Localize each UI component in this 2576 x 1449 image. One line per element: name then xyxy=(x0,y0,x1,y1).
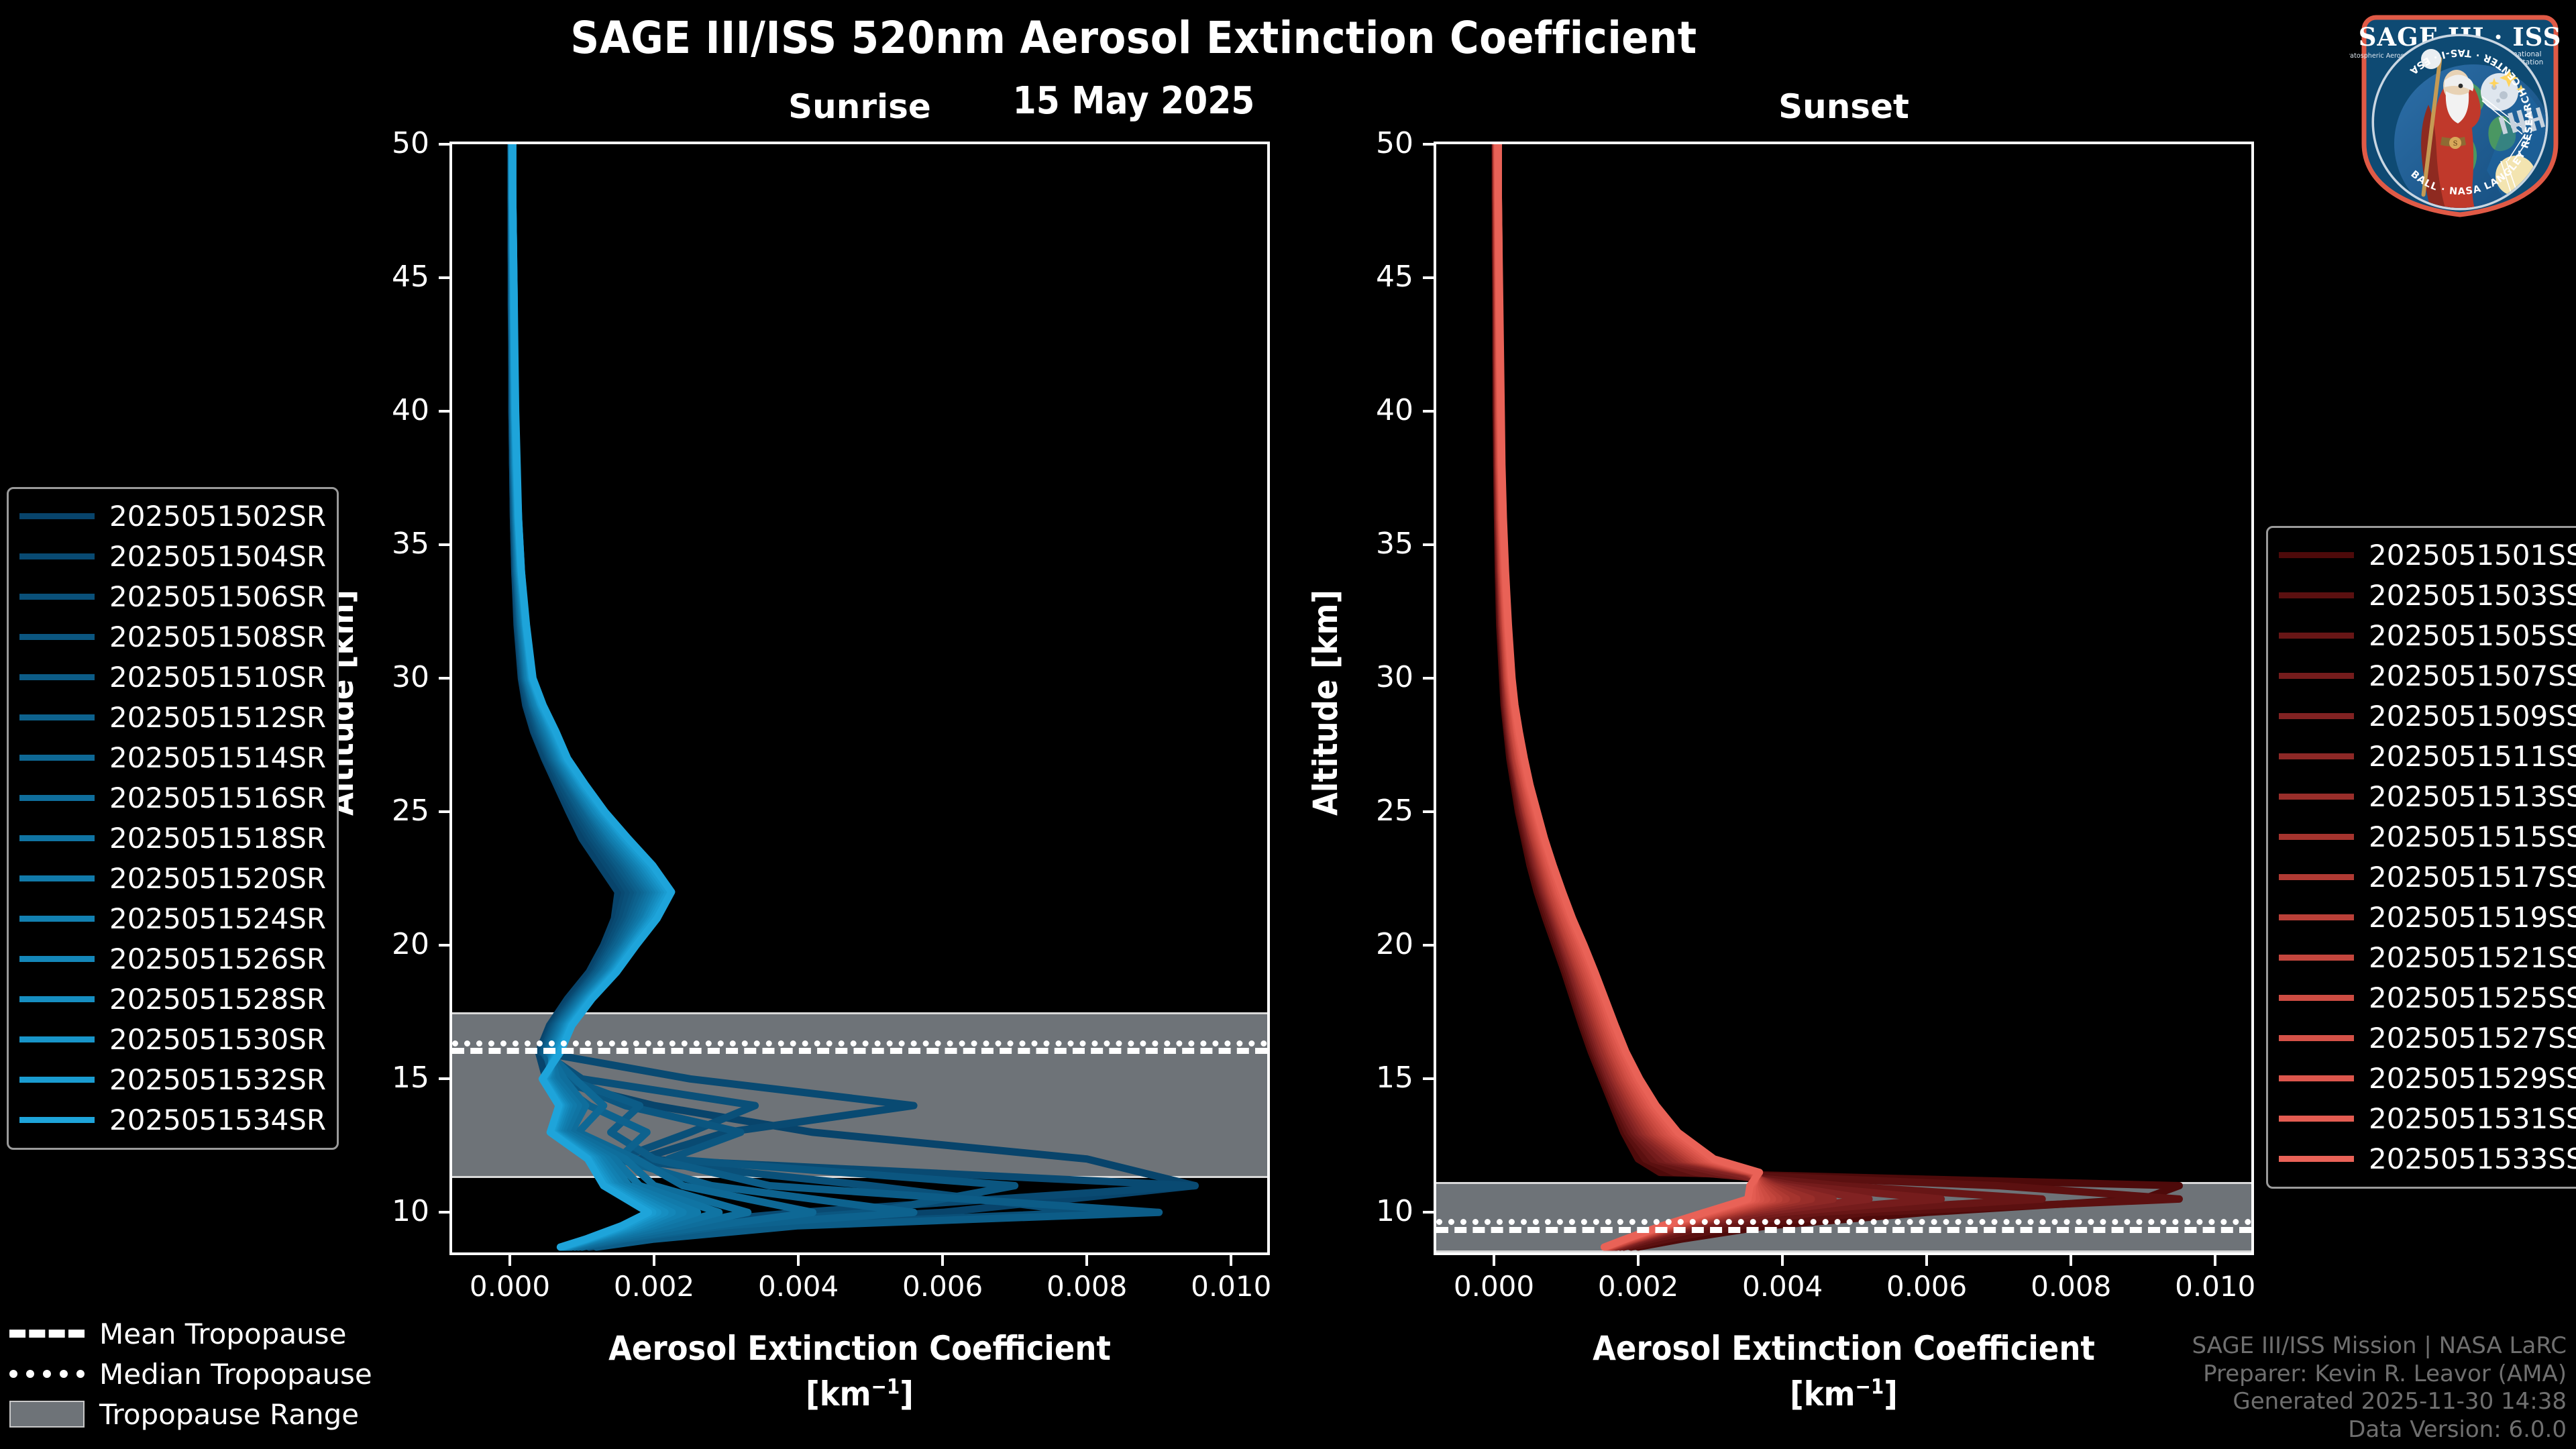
page-title: SAGE III/ISS 520nm Aerosol Extinction Co… xyxy=(0,12,2267,64)
x-tick-mark xyxy=(1085,1255,1088,1266)
sunset-legend-item[interactable]: 2025051509SS xyxy=(2279,696,2576,736)
legend-color-swatch xyxy=(2279,713,2354,719)
sunrise-legend-item[interactable]: 2025051524SR xyxy=(19,898,326,938)
credits-line-version: Data Version: 6.0.0 xyxy=(2192,1416,2567,1444)
x-tick-label: 0.010 xyxy=(2141,1273,2289,1301)
sunrise-panel-title: Sunrise xyxy=(449,87,1270,126)
legend-color-swatch xyxy=(19,513,95,519)
profile-line xyxy=(1496,144,1869,1247)
legend-event-label: 2025051531SS xyxy=(2369,1102,2576,1135)
sunrise-legend-item[interactable]: 2025051516SR xyxy=(19,777,326,818)
legend-event-label: 2025051528SR xyxy=(109,983,326,1016)
y-tick-label: 20 xyxy=(342,930,429,959)
x-tick-mark xyxy=(1230,1255,1232,1266)
y-tick-mark xyxy=(1423,1077,1434,1080)
median-tropopause-line xyxy=(1436,1219,2251,1225)
credits-line-generated: Generated 2025-11-30 14:38 xyxy=(2192,1388,2567,1415)
sunrise-legend: 2025051502SR2025051504SR2025051506SR2025… xyxy=(7,487,339,1150)
legend-event-label: 2025051504SR xyxy=(109,540,326,573)
legend-color-swatch xyxy=(19,795,95,801)
sage-iii-iss-mission-patch-logo: SAGE III · ISS Stratospheric Aerosol and… xyxy=(2349,3,2571,224)
legend-item-median-tropopause: Median Tropopause xyxy=(9,1354,372,1394)
legend-event-label: 2025051506SR xyxy=(109,580,326,613)
y-tick-mark xyxy=(439,1077,449,1080)
profile-line xyxy=(1496,144,1941,1247)
y-tick-label: 45 xyxy=(342,262,429,292)
x-tick-label: 0.002 xyxy=(580,1273,728,1301)
x-tick-label: 0.002 xyxy=(1564,1273,1712,1301)
legend-color-swatch xyxy=(2279,1035,2354,1041)
y-tick-mark xyxy=(1423,677,1434,680)
legend-color-swatch xyxy=(2279,794,2354,800)
legend-event-label: 2025051530SR xyxy=(109,1023,326,1056)
y-axis-title: Altitude [km] xyxy=(1306,590,1345,816)
legend-event-label: 2025051511SS xyxy=(2369,740,2576,773)
legend-label-range: Tropopause Range xyxy=(99,1398,359,1431)
x-tick-mark xyxy=(508,1255,511,1266)
sunset-legend-item[interactable]: 2025051505SS xyxy=(2279,615,2576,655)
sunset-legend-item[interactable]: 2025051533SS xyxy=(2279,1138,2576,1179)
tropopause-legend: Mean Tropopause Median Tropopause Tropop… xyxy=(9,1313,372,1434)
profile-line xyxy=(1495,144,2179,1247)
legend-event-label: 2025051515SS xyxy=(2369,820,2576,853)
sunset-legend-item[interactable]: 2025051517SS xyxy=(2279,857,2576,897)
y-tick-label: 15 xyxy=(1326,1063,1413,1093)
legend-event-label: 2025051517SS xyxy=(2369,861,2576,894)
x-axis-title: Aerosol Extinction Coefficient xyxy=(449,1329,1270,1368)
x-tick-label: 0.006 xyxy=(1853,1273,2000,1301)
profile-line xyxy=(1496,144,1833,1247)
x-tick-mark xyxy=(1781,1255,1784,1266)
sunrise-legend-item[interactable]: 2025051530SR xyxy=(19,1019,326,1059)
legend-color-swatch xyxy=(2279,834,2354,840)
y-tick-mark xyxy=(439,944,449,947)
sunrise-legend-item[interactable]: 2025051506SR xyxy=(19,576,326,616)
y-tick-label: 10 xyxy=(342,1197,429,1226)
legend-color-swatch xyxy=(2279,673,2354,679)
legend-event-label: 2025051529SS xyxy=(2369,1062,2576,1095)
svg-text:S: S xyxy=(2453,140,2458,148)
sunset-legend-item[interactable]: 2025051521SS xyxy=(2279,937,2576,977)
legend-event-label: 2025051526SR xyxy=(109,943,326,975)
sunrise-legend-item[interactable]: 2025051504SR xyxy=(19,536,326,576)
x-axis-unit: [km−1] xyxy=(449,1375,1270,1413)
legend-event-label: 2025051527SS xyxy=(2369,1022,2576,1055)
legend-event-label: 2025051512SR xyxy=(109,701,326,734)
sunset-legend-item[interactable]: 2025051529SS xyxy=(2279,1058,2576,1098)
x-tick-label: 0.008 xyxy=(1997,1273,2145,1301)
sunrise-legend-item[interactable]: 2025051532SR xyxy=(19,1059,326,1099)
sunrise-legend-item[interactable]: 2025051534SR xyxy=(19,1099,326,1140)
profile-lines xyxy=(452,144,1267,1252)
legend-event-label: 2025051521SS xyxy=(2369,941,2576,974)
legend-color-swatch xyxy=(2279,1116,2354,1122)
sunset-plot-area xyxy=(1434,142,2254,1255)
legend-color-swatch xyxy=(19,996,95,1002)
legend-color-swatch xyxy=(2279,874,2354,880)
legend-color-swatch xyxy=(19,916,95,922)
legend-label-mean: Mean Tropopause xyxy=(99,1318,346,1350)
y-tick-label: 35 xyxy=(342,529,429,559)
legend-color-swatch xyxy=(2279,753,2354,759)
x-tick-mark xyxy=(941,1255,944,1266)
legend-color-swatch xyxy=(19,875,95,881)
legend-event-label: 2025051505SS xyxy=(2369,619,2576,652)
profile-line xyxy=(511,144,1087,1247)
legend-color-swatch xyxy=(2279,914,2354,920)
x-tick-mark xyxy=(653,1255,655,1266)
sunset-legend-item[interactable]: 2025051513SS xyxy=(2279,776,2576,816)
y-tick-mark xyxy=(1423,143,1434,146)
legend-color-swatch xyxy=(19,714,95,720)
x-tick-label: 0.004 xyxy=(1709,1273,1856,1301)
legend-color-swatch xyxy=(19,553,95,559)
y-tick-label: 40 xyxy=(342,396,429,425)
gray-band-icon xyxy=(9,1401,85,1428)
y-tick-mark xyxy=(439,677,449,680)
credits-line-mission: SAGE III/ISS Mission | NASA LaRC xyxy=(2192,1332,2567,1360)
x-tick-label: 0.006 xyxy=(869,1273,1016,1301)
dotted-line-icon xyxy=(9,1370,85,1378)
sunset-legend-item[interactable]: 2025051531SS xyxy=(2279,1098,2576,1138)
legend-color-swatch xyxy=(19,1077,95,1083)
legend-event-label: 2025051516SR xyxy=(109,782,326,814)
sunset-legend: 2025051501SS2025051503SS2025051505SS2025… xyxy=(2266,526,2576,1189)
legend-event-label: 2025051514SR xyxy=(109,741,326,774)
legend-label-median: Median Tropopause xyxy=(99,1358,372,1391)
sunset-legend-item[interactable]: 2025051525SS xyxy=(2279,977,2576,1018)
profile-line xyxy=(1495,144,2042,1247)
legend-item-tropopause-range: Tropopause Range xyxy=(9,1394,372,1434)
y-tick-mark xyxy=(1423,276,1434,279)
y-tick-label: 10 xyxy=(1326,1197,1413,1226)
legend-color-swatch xyxy=(2279,1156,2354,1162)
legend-color-swatch xyxy=(2279,1075,2354,1081)
y-tick-label: 50 xyxy=(1326,129,1413,158)
sunset-legend-item[interactable]: 2025051507SS xyxy=(2279,655,2576,696)
x-tick-mark xyxy=(1925,1255,1928,1266)
y-tick-mark xyxy=(439,410,449,413)
y-tick-mark xyxy=(1423,944,1434,947)
legend-event-label: 2025051532SR xyxy=(109,1063,326,1096)
sunset-legend-item[interactable]: 2025051515SS xyxy=(2279,816,2576,857)
profile-line xyxy=(1496,144,1811,1247)
legend-event-label: 2025051507SS xyxy=(2369,659,2576,692)
sunrise-legend-item[interactable]: 2025051510SR xyxy=(19,657,326,697)
profile-line xyxy=(1496,144,1796,1247)
sunrise-legend-item[interactable]: 2025051528SR xyxy=(19,979,326,1019)
sunrise-plot-area xyxy=(449,142,1270,1255)
y-tick-mark xyxy=(439,1211,449,1214)
legend-event-label: 2025051509SS xyxy=(2369,700,2576,733)
legend-event-label: 2025051503SS xyxy=(2369,579,2576,612)
y-tick-label: 45 xyxy=(1326,262,1413,292)
legend-event-label: 2025051534SR xyxy=(109,1104,326,1136)
credits-line-preparer: Preparer: Kevin R. Leavor (AMA) xyxy=(2192,1360,2567,1388)
legend-color-swatch xyxy=(2279,955,2354,961)
profile-line xyxy=(1495,144,2179,1247)
y-tick-mark xyxy=(1423,810,1434,813)
x-tick-label: 0.008 xyxy=(1013,1273,1161,1301)
mean-tropopause-line xyxy=(1436,1227,2251,1233)
legend-event-label: 2025051533SS xyxy=(2369,1142,2576,1175)
legend-event-label: 2025051518SR xyxy=(109,822,326,855)
y-tick-label: 40 xyxy=(1326,396,1413,425)
legend-color-swatch xyxy=(2279,633,2354,639)
sunset-legend-item[interactable]: 2025051503SS xyxy=(2279,575,2576,615)
y-tick-label: 20 xyxy=(1326,930,1413,959)
legend-color-swatch xyxy=(2279,995,2354,1001)
x-tick-label: 0.000 xyxy=(436,1273,584,1301)
legend-event-label: 2025051525SS xyxy=(2369,981,2576,1014)
x-tick-mark xyxy=(1637,1255,1640,1266)
legend-color-swatch xyxy=(19,755,95,761)
sunrise-legend-item[interactable]: 2025051520SR xyxy=(19,858,326,898)
legend-color-swatch xyxy=(19,956,95,962)
x-axis-unit: [km−1] xyxy=(1434,1375,2254,1413)
x-tick-mark xyxy=(2214,1255,2216,1266)
legend-event-label: 2025051502SR xyxy=(109,500,326,533)
legend-item-mean-tropopause: Mean Tropopause xyxy=(9,1313,372,1354)
credits-block: SAGE III/ISS Mission | NASA LaRC Prepare… xyxy=(2192,1332,2567,1444)
x-tick-mark xyxy=(2070,1255,2072,1266)
y-tick-mark xyxy=(1423,1211,1434,1214)
sunset-legend-item[interactable]: 2025051501SS xyxy=(2279,535,2576,575)
sunrise-legend-item[interactable]: 2025051508SR xyxy=(19,616,326,657)
legend-event-label: 2025051501SS xyxy=(2369,539,2576,572)
legend-color-swatch xyxy=(2279,552,2354,558)
y-tick-mark xyxy=(439,810,449,813)
legend-color-swatch xyxy=(19,594,95,600)
sunset-legend-item[interactable]: 2025051511SS xyxy=(2279,736,2576,776)
y-tick-label: 15 xyxy=(342,1063,429,1093)
y-tick-mark xyxy=(439,276,449,279)
legend-event-label: 2025051519SS xyxy=(2369,901,2576,934)
sunset-panel-title: Sunset xyxy=(1434,87,2254,126)
legend-color-swatch xyxy=(19,1036,95,1042)
y-tick-label: 35 xyxy=(1326,529,1413,559)
legend-color-swatch xyxy=(2279,592,2354,598)
legend-event-label: 2025051520SR xyxy=(109,862,326,895)
legend-color-swatch xyxy=(19,674,95,680)
y-tick-mark xyxy=(1423,543,1434,546)
legend-event-label: 2025051508SR xyxy=(109,621,326,653)
sunset-legend-item[interactable]: 2025051519SS xyxy=(2279,897,2576,937)
y-tick-mark xyxy=(439,543,449,546)
legend-event-label: 2025051513SS xyxy=(2369,780,2576,813)
sunrise-legend-item[interactable]: 2025051502SR xyxy=(19,496,326,536)
legend-color-swatch xyxy=(19,1117,95,1123)
y-tick-mark xyxy=(1423,410,1434,413)
sunrise-legend-item[interactable]: 2025051512SR xyxy=(19,697,326,737)
median-tropopause-line xyxy=(452,1040,1267,1046)
legend-color-swatch xyxy=(19,835,95,841)
y-tick-label: 50 xyxy=(342,129,429,158)
y-tick-mark xyxy=(439,143,449,146)
profile-line xyxy=(1497,144,1760,1247)
x-tick-mark xyxy=(1493,1255,1495,1266)
sunrise-legend-item[interactable]: 2025051526SR xyxy=(19,938,326,979)
x-tick-label: 0.004 xyxy=(724,1273,872,1301)
sunset-legend-item[interactable]: 2025051527SS xyxy=(2279,1018,2576,1058)
x-tick-label: 0.010 xyxy=(1157,1273,1305,1301)
legend-event-label: 2025051510SR xyxy=(109,661,326,694)
mean-tropopause-line xyxy=(452,1048,1267,1054)
x-tick-label: 0.000 xyxy=(1420,1273,1568,1301)
dashed-line-icon xyxy=(9,1330,85,1338)
legend-event-label: 2025051524SR xyxy=(109,902,326,935)
x-axis-title: Aerosol Extinction Coefficient xyxy=(1434,1329,2254,1368)
x-tick-mark xyxy=(797,1255,800,1266)
profile-lines xyxy=(1436,144,2251,1252)
sunrise-legend-item[interactable]: 2025051518SR xyxy=(19,818,326,858)
sunrise-legend-item[interactable]: 2025051514SR xyxy=(19,737,326,777)
legend-color-swatch xyxy=(19,634,95,640)
